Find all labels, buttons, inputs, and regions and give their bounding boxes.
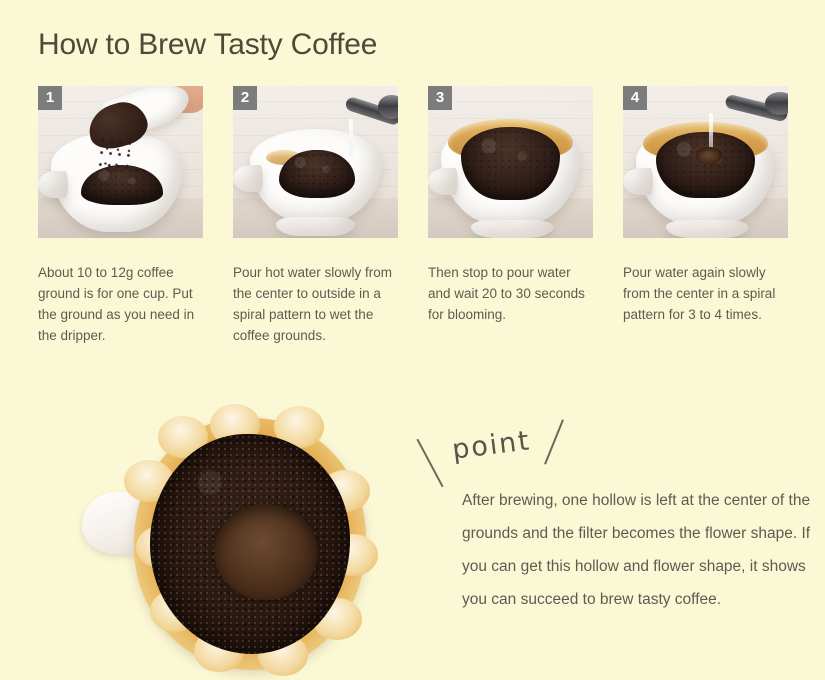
step-photo-3: 3 xyxy=(428,86,593,238)
point-slash-right-icon xyxy=(544,419,564,464)
infographic-page: How to Brew Tasty Coffee xyxy=(0,0,825,680)
step-caption-4: Pour water again slowly from the center … xyxy=(623,262,788,325)
step-caption-1: About 10 to 12g coffee ground is for one… xyxy=(38,262,203,346)
step-photo-2: 2 xyxy=(233,86,398,238)
scene-second-pour-icon xyxy=(623,86,788,238)
step-item-1: 1 About 10 to 12g coffee ground is for o… xyxy=(38,86,203,346)
point-label-group: point xyxy=(412,416,572,490)
scene-blooming-grounds-icon xyxy=(428,86,593,238)
step-badge-2: 2 xyxy=(233,86,257,110)
step-badge-1: 1 xyxy=(38,86,62,110)
steps-row: 1 About 10 to 12g coffee ground is for o… xyxy=(38,86,790,346)
scene-pouring-water-icon xyxy=(233,86,398,238)
step-item-2: 2 Pour hot water slowly from the center … xyxy=(233,86,398,346)
step-badge-3: 3 xyxy=(428,86,452,110)
step-caption-3: Then stop to pour water and wait 20 to 3… xyxy=(428,262,593,325)
scene-pouring-grounds-icon xyxy=(38,86,203,238)
page-title: How to Brew Tasty Coffee xyxy=(38,28,377,62)
step-badge-4: 4 xyxy=(623,86,647,110)
step-item-3: 3 Then stop to pour water and wait 20 to… xyxy=(428,86,593,346)
step-caption-2: Pour hot water slowly from the center to… xyxy=(233,262,398,346)
point-body-text: After brewing, one hollow is left at the… xyxy=(462,484,814,616)
point-slash-left-icon xyxy=(416,439,443,488)
hollow-center xyxy=(214,504,318,600)
step-photo-4: 4 xyxy=(623,86,788,238)
step-photo-1: 1 xyxy=(38,86,203,238)
point-label: point xyxy=(450,425,532,465)
hero-photo-spent-grounds xyxy=(72,412,372,674)
step-item-4: 4 Pour water again slowly from the cente… xyxy=(623,86,788,346)
